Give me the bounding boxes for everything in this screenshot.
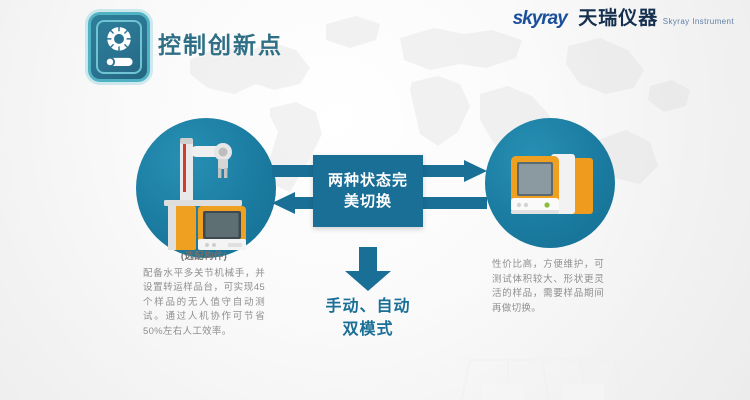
header: 控制创新点 skyray 天瑞仪器 Skyray Instrument [0, 0, 750, 96]
center-state-label: 两种状态完美切换 [325, 170, 411, 212]
benchtop-analyzer-illustration [485, 118, 615, 248]
page-title: 控制创新点 [158, 26, 283, 60]
left-node-caption: (选配构件) 配备水平多关节机械手，并设置转运样品台，可实现45个样品的无人值守… [143, 250, 265, 339]
background-geometry [430, 358, 660, 400]
safe-vault-icon [88, 12, 150, 82]
slide-canvas: 控制创新点 skyray 天瑞仪器 Skyray Instrument [0, 0, 750, 400]
logo-wordmark: skyray [513, 8, 567, 30]
left-node-circle [136, 118, 276, 258]
dual-mode-label: 手动、自动双模式 [325, 295, 411, 341]
arrow-down-icon [345, 247, 391, 291]
robotic-arm-analyzer-illustration [136, 118, 276, 258]
left-caption-heading: (选配构件) [143, 250, 265, 265]
left-caption-body: 配备水平多关节机械手，并设置转运样品台，可实现45个样品的无人值守自动测试。通过… [143, 267, 265, 340]
right-node-caption: 性价比高，方便维护，可测试体积较大、形状更灵活的样品，需要样品期间再做切换。 [492, 258, 604, 316]
center-state-box[interactable]: 两种状态完美切换 [313, 155, 423, 227]
logo-name-cn: 天瑞仪器 [578, 8, 658, 29]
right-node-circle [485, 118, 615, 248]
logo-name-en: Skyray Instrument [663, 17, 734, 26]
brand-logo: skyray 天瑞仪器 Skyray Instrument [513, 8, 734, 30]
right-caption-body: 性价比高，方便维护，可测试体积较大、形状更灵活的样品，需要样品期间再做切换。 [492, 258, 604, 316]
